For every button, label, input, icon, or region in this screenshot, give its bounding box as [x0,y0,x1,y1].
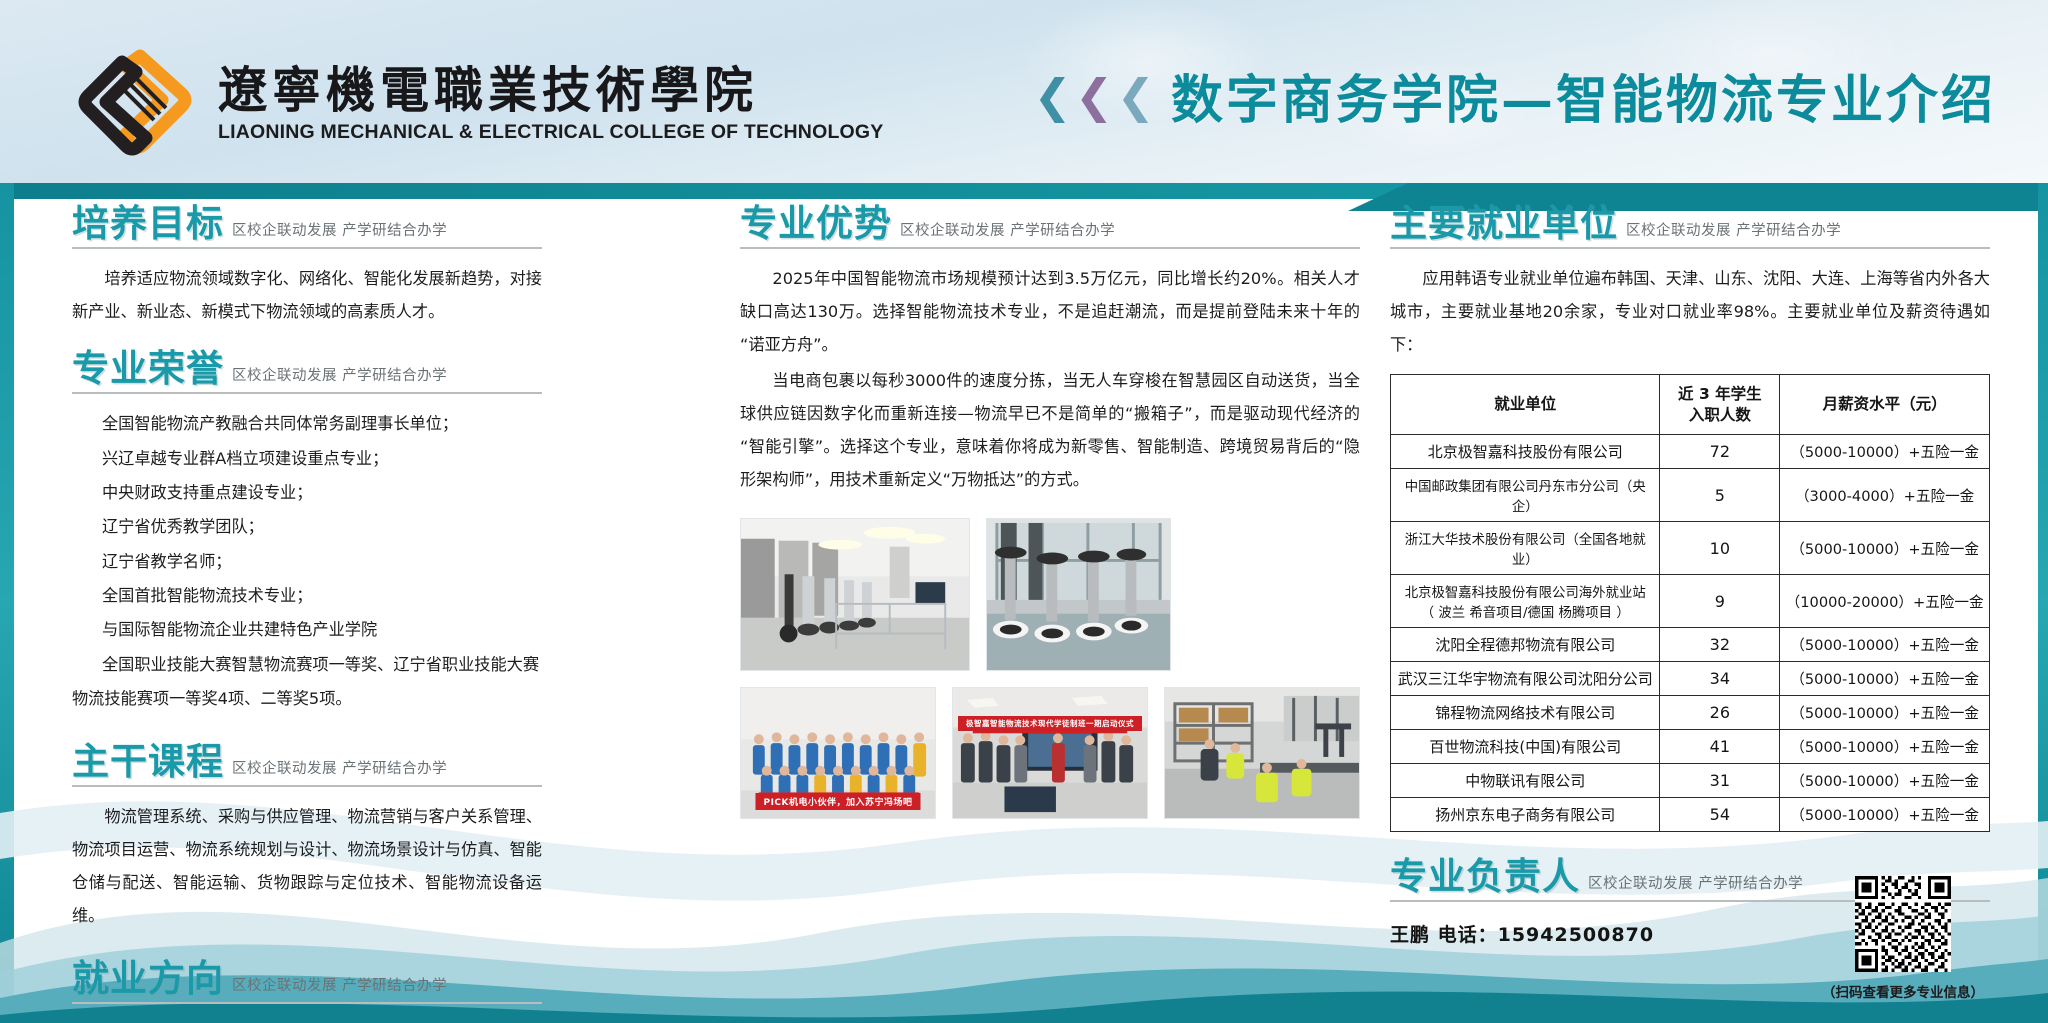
section-title: 专业负责人 [1390,858,1580,895]
cell-employer-name: 北京极智嘉科技股份有限公司 [1391,435,1660,469]
section-body: 智能仓储管理、物流项目运营主管、物流销售主管、物流数据分析员、国际货运主管、智能… [72,1017,542,1023]
photo-row-top [740,518,1360,671]
employer-name-line: （ 波兰 希音项目/德国 杨腾项目 ） [1395,601,1655,621]
cell-employer-name: 武汉三江华宇物流有限公司沈阳分公司 [1391,662,1660,696]
content-columns: 培养目标 区校企联动发展 产学研结合办学 培养适应物流领域数字化、网络化、智能化… [0,205,2048,1023]
photo-ceremony-banner-text: 极智嘉智能物流技术现代学徒制班一期启动仪式 [958,716,1142,731]
table-head: 就业单位 近 3 年学生 入职人数 月薪资水平（元） [1391,374,1990,435]
column-right: 主要就业单位 区校企联动发展 产学研结合办学 应用韩语专业就业单位遍布韩国、天津… [1390,205,1990,951]
table-row: 沈阳全程德邦物流有限公司32（5000-10000）+五险一金 [1391,628,1990,662]
section-body: 应用韩语专业就业单位遍布韩国、天津、山东、沈阳、大连、上海等省内外各大城市，主要… [1390,262,1990,362]
section-header: 专业优势 区校企联动发展 产学研结合办学 [740,205,1360,249]
college-name-block: 遼寧機電職業技術學院 LIAONING MECHANICAL & ELECTRI… [218,64,884,145]
college-name-en: LIAONING MECHANICAL & ELECTRICAL COLLEGE… [218,121,884,144]
section-header: 主干课程 区校企联动发展 产学研结合办学 [72,743,542,787]
section-career-direction: 就业方向 区校企联动发展 产学研结合办学 智能仓储管理、物流项目运营主管、物流销… [72,960,542,1023]
section-training-goal: 培养目标 区校企联动发展 产学研结合办学 培养适应物流领域数字化、网络化、智能化… [72,205,542,328]
photo-banner-text: PICK机电小伙伴，加入苏宁冯场吧 [755,793,920,810]
section-title: 专业优势 [740,205,892,242]
qr-block: （扫码查看更多专业信息） [1822,876,1984,1001]
cell-employer-name: 扬州京东电子商务有限公司 [1391,798,1660,832]
cell-salary-range: （5000-10000）+五险一金 [1780,696,1990,730]
table-header-row: 就业单位 近 3 年学生 入职人数 月薪资水平（元） [1391,374,1990,435]
qr-caption: （扫码查看更多专业信息） [1822,981,1984,1001]
employers-intro: 应用韩语专业就业单位遍布韩国、天津、山东、沈阳、大连、上海等省内外各大城市，主要… [1390,262,1990,362]
section-title: 就业方向 [72,960,224,997]
list-item: 兴辽卓越专业群A档立项建设重点专业； [72,442,542,476]
cell-salary-range: （5000-10000）+五险一金 [1780,730,1990,764]
cell-hire-count: 5 [1660,469,1780,522]
section-subtitle: 区校企联动发展 产学研结合办学 [1626,219,1841,242]
section-subtitle: 区校企联动发展 产学研结合办学 [900,219,1115,242]
section-major-advantage: 专业优势 区校企联动发展 产学研结合办学 2025年中国智能物流市场规模预计达到… [740,205,1360,496]
section-title: 培养目标 [72,205,224,242]
photo-agv-lab-wide [740,518,970,671]
table-row: 北京极智嘉科技股份有限公司72（5000-10000）+五险一金 [1391,435,1990,469]
cell-salary-range: （5000-10000）+五险一金 [1780,522,1990,575]
table-body: 北京极智嘉科技股份有限公司72（5000-10000）+五险一金中国邮政集团有限… [1391,435,1990,832]
poster-root: 遼寧機電職業技術學院 LIAONING MECHANICAL & ELECTRI… [0,0,2048,1023]
cell-salary-range: （5000-10000）+五险一金 [1780,798,1990,832]
header-title-group: ❮ ❮ ❮ 数字商务学院—智能物流专业介绍 [1033,58,1996,133]
cell-hire-count: 41 [1660,730,1780,764]
list-item: 全国职业技能大赛智慧物流赛项一等奖、辽宁省职业技能大赛物流技能赛项一等奖4项、二… [72,648,542,717]
table-row: 百世物流科技(中国)有限公司41（5000-10000）+五险一金 [1391,730,1990,764]
section-title: 主要就业单位 [1390,205,1618,242]
qr-code-icon[interactable] [1855,876,1951,972]
photo-agv-robots-window [986,518,1171,671]
employer-name-line: 中物联讯有限公司 [1395,770,1655,791]
table-row: 中物联讯有限公司31（5000-10000）+五险一金 [1391,764,1990,798]
cell-salary-range: （3000-4000）+五险一金 [1780,469,1990,522]
cell-employer-name: 沈阳全程德邦物流有限公司 [1391,628,1660,662]
cell-hire-count: 34 [1660,662,1780,696]
section-header: 主要就业单位 区校企联动发展 产学研结合办学 [1390,205,1990,249]
page-header: 遼寧機電職業技術學院 LIAONING MECHANICAL & ELECTRI… [0,0,2048,183]
table-row: 锦程物流网络技术有限公司26（5000-10000）+五险一金 [1391,696,1990,730]
table-row: 中国邮政集团有限公司丹东市分公司（央企）5（3000-4000）+五险一金 [1391,469,1990,522]
page-title: 数字商务学院—智能物流专业介绍 [1171,58,1996,133]
employer-name-line: 北京极智嘉科技股份有限公司 [1395,441,1655,462]
advantage-paragraph-1: 2025年中国智能物流市场规模预计达到3.5万亿元，同比增长约20%。相关人才缺… [740,262,1360,362]
employer-name-line: 锦程物流网络技术有限公司 [1395,702,1655,723]
cell-salary-range: （10000-20000）+五险一金 [1780,575,1990,628]
cell-salary-range: （5000-10000）+五险一金 [1780,435,1990,469]
employer-name-line: 武汉三江华宇物流有限公司沈阳分公司 [1395,668,1655,689]
employer-name-line: 浙江大华技术股份有限公司（全国各地就业） [1395,528,1655,568]
table-row: 浙江大华技术股份有限公司（全国各地就业）10（5000-10000）+五险一金 [1391,522,1990,575]
section-major-honors: 专业荣誉 区校企联动发展 产学研结合办学 全国智能物流产教融合共同体常务副理事长… [72,350,542,716]
cell-hire-count: 32 [1660,628,1780,662]
goal-paragraph: 培养适应物流领域数字化、网络化、智能化发展新趋势，对接新产业、新业态、新模式下物… [72,262,542,328]
direction-paragraph: 智能仓储管理、物流项目运营主管、物流销售主管、物流数据分析员、国际货运主管、智能… [72,1017,542,1023]
college-logo: 遼寧機電職業技術學院 LIAONING MECHANICAL & ELECTRI… [78,48,884,160]
cell-employer-name: 中物联讯有限公司 [1391,764,1660,798]
section-body: 培养适应物流领域数字化、网络化、智能化发展新趋势，对接新产业、新业态、新模式下物… [72,262,542,328]
section-body: 2025年中国智能物流市场规模预计达到3.5万亿元，同比增长约20%。相关人才缺… [740,262,1360,496]
list-item: 与国际智能物流企业共建特色产业学院 [72,613,542,647]
column-header-count: 近 3 年学生 入职人数 [1660,374,1780,435]
honor-list: 全国智能物流产教融合共同体常务副理事长单位； 兴辽卓越专业群A档立项建设重点专业… [72,407,542,716]
logo-diamond-icon [78,48,196,160]
section-body: 物流管理系统、采购与供应管理、物流营销与客户关系管理、物流项目运营、物流系统规划… [72,800,542,933]
section-title: 专业荣誉 [72,350,224,387]
cell-employer-name: 浙江大华技术股份有限公司（全国各地就业） [1391,522,1660,575]
cell-hire-count: 26 [1660,696,1780,730]
cell-salary-range: （5000-10000）+五险一金 [1780,764,1990,798]
employment-table: 就业单位 近 3 年学生 入职人数 月薪资水平（元） 北京极智嘉科技股份有限公司… [1390,374,1990,833]
cell-hire-count: 10 [1660,522,1780,575]
section-subtitle: 区校企联动发展 产学研结合办学 [232,974,447,997]
table-row: 北京极智嘉科技股份有限公司海外就业站（ 波兰 希音项目/德国 杨腾项目 ）9（1… [1391,575,1990,628]
count-header-line1: 近 3 年学生 [1664,384,1775,405]
cell-hire-count: 72 [1660,435,1780,469]
cell-employer-name: 中国邮政集团有限公司丹东市分公司（央企） [1391,469,1660,522]
section-core-courses: 主干课程 区校企联动发展 产学研结合办学 物流管理系统、采购与供应管理、物流营销… [72,743,542,933]
cell-salary-range: （5000-10000）+五险一金 [1780,662,1990,696]
section-subtitle: 区校企联动发展 产学研结合办学 [1588,872,1803,895]
section-main-employers: 主要就业单位 区校企联动发展 产学研结合办学 应用韩语专业就业单位遍布韩国、天津… [1390,205,1990,832]
cell-employer-name: 百世物流科技(中国)有限公司 [1391,730,1660,764]
column-header-salary: 月薪资水平（元） [1780,374,1990,435]
list-item: 辽宁省教学名师； [72,545,542,579]
section-header: 就业方向 区校企联动发展 产学研结合办学 [72,960,542,1004]
section-subtitle: 区校企联动发展 产学研结合办学 [232,757,447,780]
table-row: 扬州京东电子商务有限公司54（5000-10000）+五险一金 [1391,798,1990,832]
photo-apprentice-ceremony: 极智嘉智能物流技术现代学徒制班一期启动仪式 [952,687,1148,819]
list-item: 全国智能物流产教融合共同体常务副理事长单位； [72,407,542,441]
count-header-line2: 入职人数 [1664,405,1775,426]
column-left: 培养目标 区校企联动发展 产学研结合办学 培养适应物流领域数字化、网络化、智能化… [72,205,542,1023]
chevron-decoration-icon: ❮ ❮ ❮ [1033,73,1155,119]
cell-salary-range: （5000-10000）+五险一金 [1780,628,1990,662]
section-header: 培养目标 区校企联动发展 产学研结合办学 [72,205,542,249]
section-program-leader: 专业负责人 区校企联动发展 产学研结合办学 王鹏 电话：15942500870 [1390,858,1990,947]
employer-name-line: 中国邮政集团有限公司丹东市分公司（央企） [1395,475,1655,515]
table-row: 武汉三江华宇物流有限公司沈阳分公司34（5000-10000）+五险一金 [1391,662,1990,696]
cell-employer-name: 北京极智嘉科技股份有限公司海外就业站（ 波兰 希音项目/德国 杨腾项目 ） [1391,575,1660,628]
advantage-paragraph-2: 当电商包裹以每秒3000件的速度分拣，当无人车穿梭在智慧园区自动送货，当全球供应… [740,364,1360,497]
employer-name-line: 沈阳全程德邦物流有限公司 [1395,634,1655,655]
cell-hire-count: 9 [1660,575,1780,628]
photo-row-bottom: PICK机电小伙伴，加入苏宁冯场吧 [740,687,1360,819]
list-item: 辽宁省优秀教学团队； [72,510,542,544]
section-subtitle: 区校企联动发展 产学研结合办学 [232,219,447,242]
list-item: 中央财政支持重点建设专业； [72,476,542,510]
employer-name-line: 百世物流科技(中国)有限公司 [1395,736,1655,757]
cell-employer-name: 锦程物流网络技术有限公司 [1391,696,1660,730]
section-header: 专业荣誉 区校企联动发展 产学研结合办学 [72,350,542,394]
employer-name-line: 北京极智嘉科技股份有限公司海外就业站 [1395,581,1655,601]
section-subtitle: 区校企联动发展 产学研结合办学 [232,364,447,387]
photo-warehouse-picking [1164,687,1360,819]
section-title: 主干课程 [72,743,224,780]
column-header-unit: 就业单位 [1391,374,1660,435]
list-item: 全国首批智能物流技术专业； [72,579,542,613]
photo-student-group-banner: PICK机电小伙伴，加入苏宁冯场吧 [740,687,936,819]
employer-name-line: 扬州京东电子商务有限公司 [1395,804,1655,825]
column-middle: 专业优势 区校企联动发展 产学研结合办学 2025年中国智能物流市场规模预计达到… [740,205,1360,819]
courses-paragraph: 物流管理系统、采购与供应管理、物流营销与客户关系管理、物流项目运营、物流系统规划… [72,800,542,933]
cell-hire-count: 54 [1660,798,1780,832]
cell-hire-count: 31 [1660,764,1780,798]
college-name-cn: 遼寧機電職業技術學院 [218,64,884,117]
